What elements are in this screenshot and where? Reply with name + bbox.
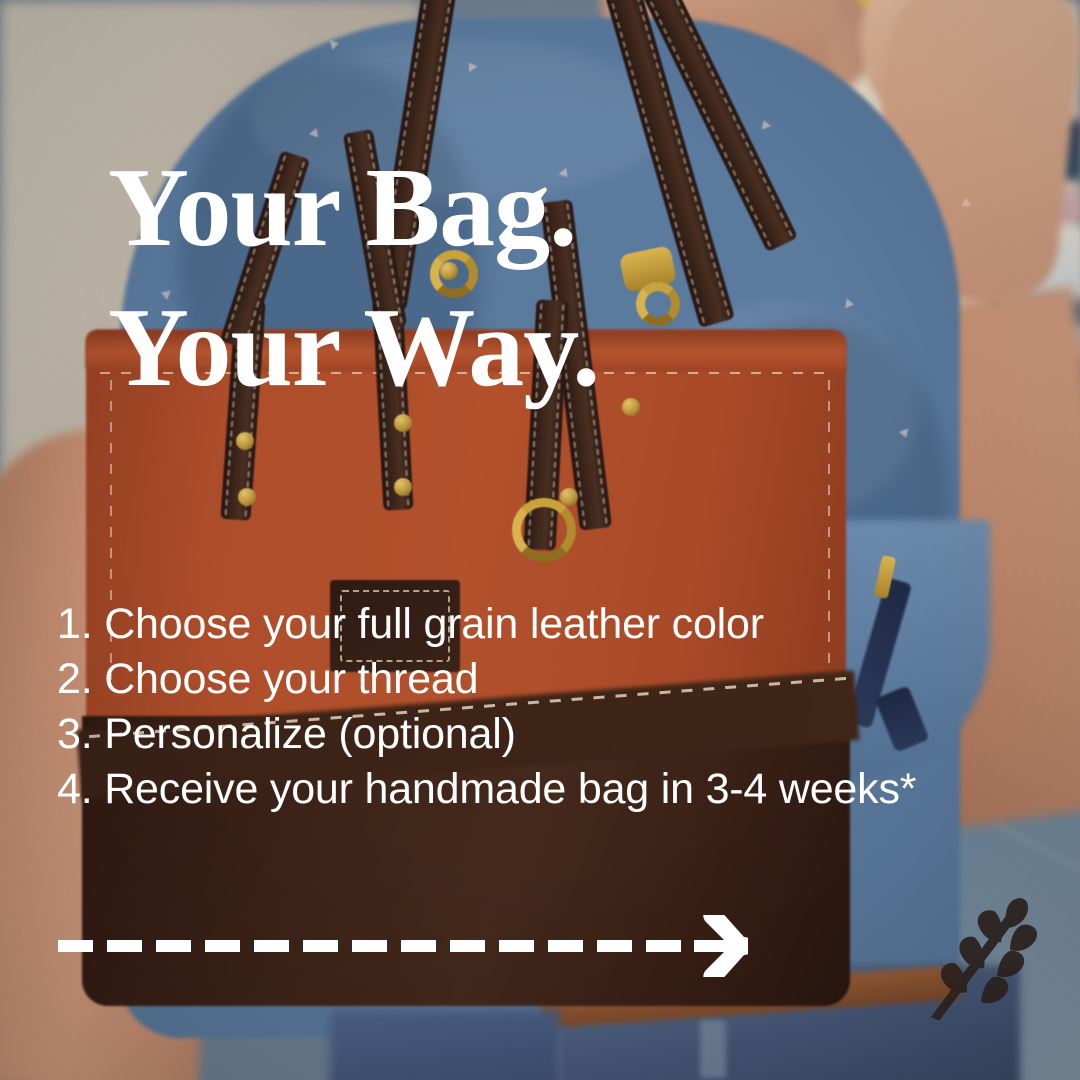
step-item-4: 4. Receive your handmade bag in 3-4 week… (57, 762, 916, 817)
step-item-2: 2. Choose your thread (57, 652, 916, 707)
bag-rivet-4 (394, 478, 412, 496)
step-item-1: 1. Choose your full grain leather color (57, 597, 916, 652)
dashed-right-arrow-icon (58, 915, 748, 977)
bag-rivet-1 (236, 432, 254, 450)
bag-ring-right (636, 282, 680, 326)
bag-rivet-2 (238, 488, 256, 506)
headline-line-1: Your Bag. (108, 138, 599, 278)
leaf-sprig-icon (928, 895, 1048, 1020)
jeans-belt-loop (700, 1020, 726, 1078)
bag-rivet-5 (622, 398, 640, 416)
bag-d-ring-left (512, 498, 576, 562)
headline-line-2: Your Way. (108, 278, 599, 418)
promo-graphic-canvas: Your Bag. Your Way. 1. Choose your full … (0, 0, 1080, 1080)
person-jeans-left (330, 1010, 560, 1080)
page-title: Your Bag. Your Way. (108, 138, 599, 418)
steps-list: 1. Choose your full grain leather color … (57, 597, 916, 817)
step-item-3: 3. Personalize (optional) (57, 707, 916, 762)
shirt-print-fleck (845, 298, 855, 309)
